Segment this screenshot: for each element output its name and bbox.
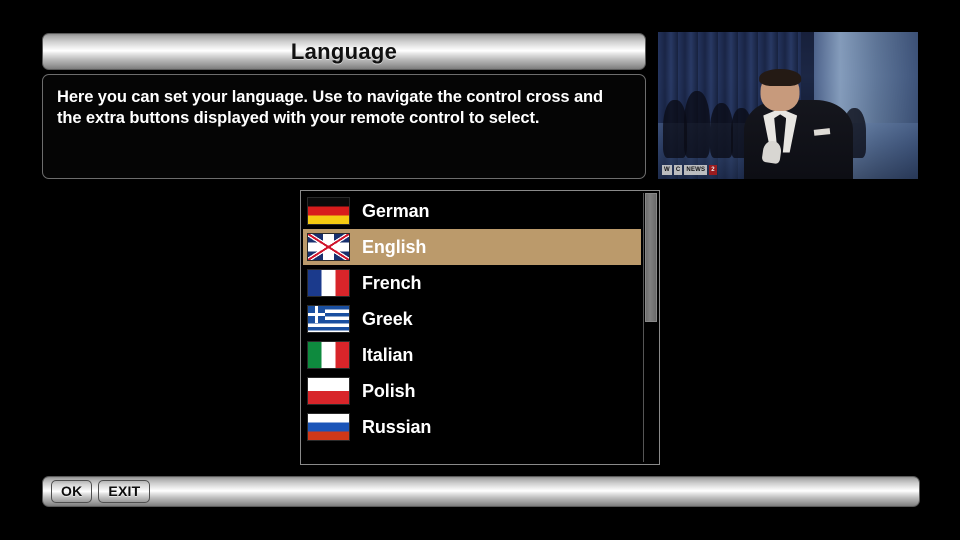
flag-italy-icon — [307, 341, 350, 369]
reporter-suit — [744, 100, 853, 179]
flag-germany-icon — [307, 197, 350, 225]
list-item-label: Polish — [362, 381, 415, 402]
list-item-label: Italian — [362, 345, 413, 366]
crowd-figure — [684, 91, 710, 159]
help-text-box: Here you can set your language. Use to n… — [42, 74, 646, 179]
language-list-panel[interactable]: German English French Greek Italian Poli — [300, 190, 660, 465]
reporter-hair — [759, 69, 801, 87]
broadcast-watermark: W C NEWS 2 — [662, 165, 717, 175]
bottom-button-bar: OK EXIT — [42, 476, 920, 507]
watermark-part: NEWS — [684, 165, 707, 175]
list-item-label: French — [362, 273, 421, 294]
scrollbar-thumb[interactable] — [645, 193, 657, 322]
list-item-label: English — [362, 237, 426, 258]
list-item[interactable]: German — [303, 193, 641, 229]
watermark-part: C — [674, 165, 683, 175]
list-item-label: Russian — [362, 417, 431, 438]
list-item-label: Greek — [362, 309, 413, 330]
watermark-part: 2 — [709, 165, 717, 175]
tv-settings-screen: Language Here you can set your language.… — [0, 0, 960, 540]
language-list: German English French Greek Italian Poli — [301, 191, 641, 464]
crowd-figure — [710, 103, 733, 159]
list-item[interactable]: Italian — [303, 337, 641, 373]
ok-button[interactable]: OK — [51, 480, 92, 503]
video-preview[interactable]: W C NEWS 2 — [658, 32, 918, 179]
flag-russia-icon — [307, 413, 350, 441]
exit-button[interactable]: EXIT — [98, 480, 150, 503]
list-item[interactable]: French — [303, 265, 641, 301]
flag-united-kingdom-icon — [307, 233, 350, 261]
watermark-part: W — [662, 165, 672, 175]
page-title: Language — [291, 39, 397, 65]
help-text: Here you can set your language. Use to n… — [57, 87, 631, 129]
list-item[interactable]: Russian — [303, 409, 641, 445]
list-item[interactable]: English — [303, 229, 641, 265]
flag-poland-icon — [307, 377, 350, 405]
list-item[interactable]: Polish — [303, 373, 641, 409]
list-item-label: German — [362, 201, 429, 222]
page-title-bar: Language — [42, 33, 646, 70]
list-scrollbar[interactable] — [643, 193, 657, 462]
flag-france-icon — [307, 269, 350, 297]
list-item[interactable]: Greek — [303, 301, 641, 337]
flag-greece-icon — [307, 305, 350, 333]
